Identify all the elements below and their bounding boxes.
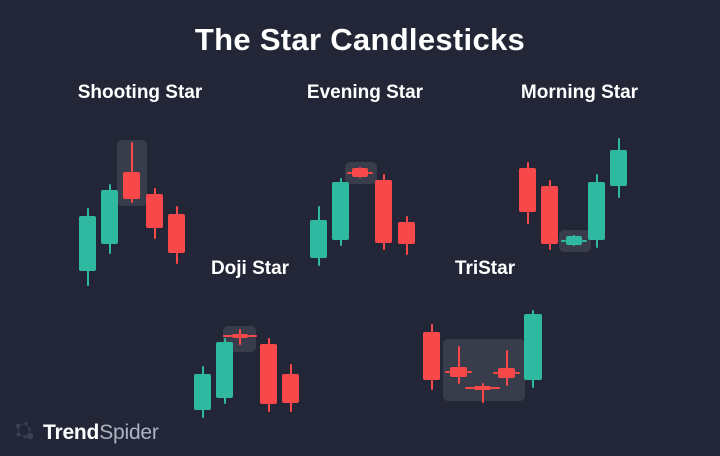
pattern-label-tristar: TriStar [405,258,565,280]
candle-morning-star-0 [519,110,536,270]
pattern-panel-morning-star: Morning Star [497,82,662,270]
candle-body [168,214,185,253]
candle-body [282,374,299,403]
candle-doji-star-4 [282,286,299,406]
candle-wick [458,346,460,384]
candle-morning-star-1 [541,110,558,270]
candle-tristar-4 [524,286,542,406]
candle-horizontal-wick [223,335,232,337]
candle-body [101,190,118,244]
candle-shooting-star-0 [79,110,96,270]
pattern-label-evening-star: Evening Star [290,82,440,104]
candle-doji-star-2 [232,286,248,406]
infographic-canvas: The Star Candlesticks Shooting StarEveni… [0,0,720,456]
logo-spider-text: Spider [99,421,159,444]
candle-horizontal-wick [465,387,474,389]
pattern-panel-evening-star: Evening Star [290,82,440,270]
candle-horizontal-wick [368,172,373,174]
candle-body [524,314,542,380]
candle-shooting-star-4 [168,110,185,270]
candlestick-chart-evening-star [290,110,440,270]
candle-body [588,182,605,240]
trendspider-logo[interactable]: TrendSpider [14,420,159,444]
candle-horizontal-wick [561,240,566,242]
candle-body [123,172,140,199]
candle-doji-star-3 [260,286,277,406]
candle-shooting-star-2 [123,110,140,270]
candle-evening-star-2 [352,110,368,270]
candle-body [232,334,248,338]
candle-body [260,344,277,404]
candle-body [310,220,327,258]
candle-body [498,368,515,378]
candle-body [216,342,233,398]
candle-evening-star-3 [375,110,392,270]
candlestick-chart-shooting-star [55,110,225,270]
candle-horizontal-wick [493,372,498,374]
candle-shooting-star-1 [101,110,118,270]
candle-morning-star-3 [588,110,605,270]
candle-body [610,150,627,186]
pattern-panel-doji-star: Doji Star [180,258,320,406]
candle-morning-star-4 [610,110,627,270]
candle-evening-star-0 [310,110,327,270]
candle-body [352,168,368,177]
candle-morning-star-2 [566,110,582,270]
candlestick-chart-tristar [405,286,565,406]
candle-body [146,194,163,228]
candle-body [474,386,491,390]
candle-shooting-star-3 [146,110,163,270]
pattern-label-doji-star: Doji Star [180,258,320,280]
candle-horizontal-wick [445,371,450,373]
candle-doji-star-1 [216,286,233,406]
candle-horizontal-wick [582,240,587,242]
candle-body [566,236,582,245]
candle-doji-star-0 [194,286,211,406]
pattern-panel-tristar: TriStar [405,258,565,406]
candle-body [541,186,558,244]
candlestick-chart-morning-star [497,110,662,270]
candle-body [398,222,415,244]
candle-body [194,374,211,410]
candle-body [423,332,440,380]
candle-horizontal-wick [347,172,352,174]
page-title: The Star Candlesticks [0,22,720,58]
pattern-label-morning-star: Morning Star [497,82,662,104]
candle-tristar-2 [474,286,491,406]
network-nodes-icon [14,420,36,444]
candle-body [79,216,96,271]
pattern-label-shooting-star: Shooting Star [55,82,225,104]
candle-horizontal-wick [248,335,257,337]
candle-evening-star-1 [332,110,349,270]
candle-evening-star-4 [398,110,415,270]
pattern-panel-shooting-star: Shooting Star [55,82,225,270]
candle-tristar-3 [498,286,515,406]
candle-tristar-0 [423,286,440,406]
candle-body [519,168,536,212]
candle-body [375,180,392,243]
candlestick-chart-doji-star [180,286,320,406]
candle-horizontal-wick [467,371,472,373]
logo-trend-text: Trend [43,421,99,444]
candle-horizontal-wick [515,372,520,374]
candle-body [450,367,467,377]
candle-body [332,182,349,240]
logo-wordmark: TrendSpider [43,422,159,443]
